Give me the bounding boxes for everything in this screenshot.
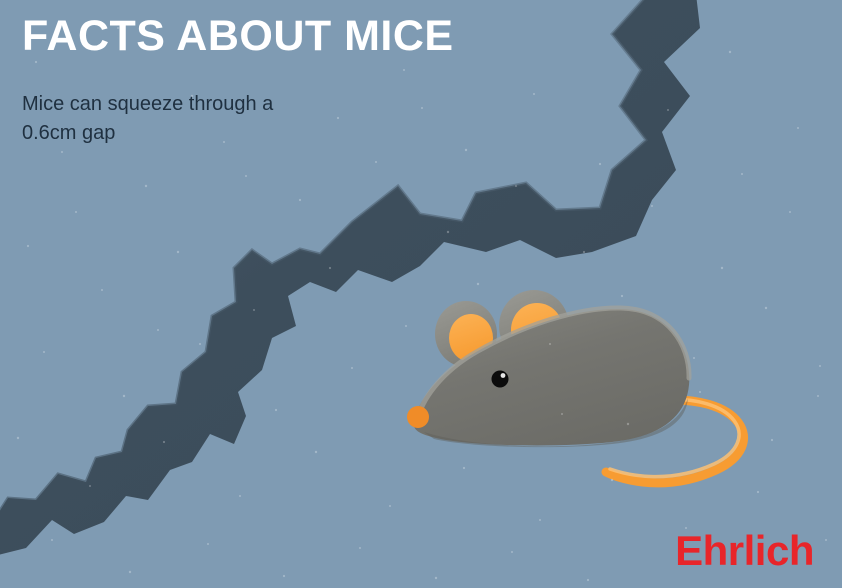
mouse-eye-icon <box>492 371 509 388</box>
poster-subtitle: Mice can squeeze through a 0.6cm gap <box>22 90 382 148</box>
text-block: FACTS ABOUT MICE Mice can squeeze throug… <box>22 14 454 148</box>
poster-canvas: FACTS ABOUT MICE Mice can squeeze throug… <box>0 0 842 588</box>
brand-logo[interactable]: Ehrlich <box>675 530 814 572</box>
mouse-nose-icon <box>407 406 429 428</box>
page-title: FACTS ABOUT MICE <box>22 14 454 59</box>
